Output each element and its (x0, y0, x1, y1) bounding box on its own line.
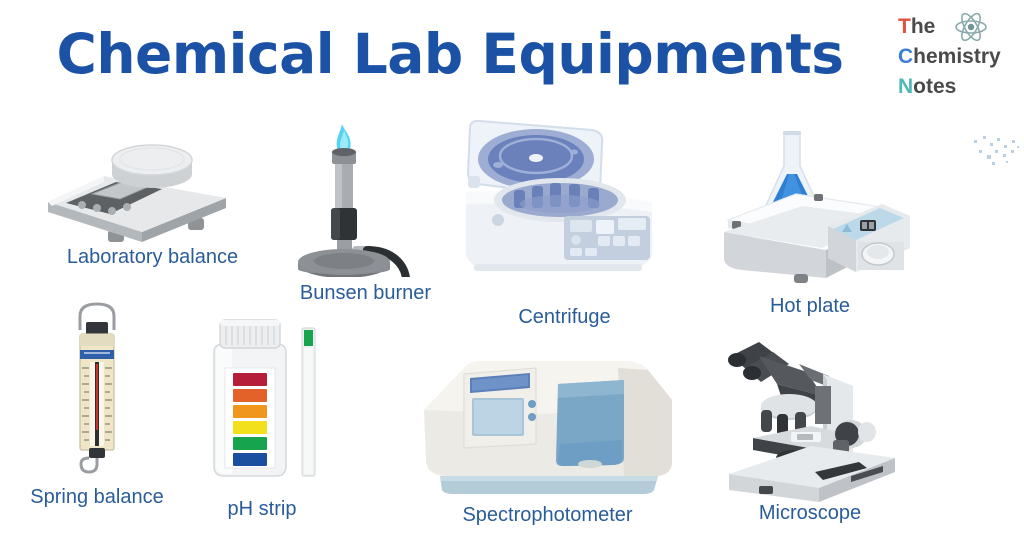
infographic-canvas: Chemical Lab Equipments The Chemistry No… (0, 0, 1024, 536)
equipment-spectrophotometer: Spectrophotometer (410, 348, 685, 533)
logo-line1-rest: he (911, 15, 936, 38)
molecule-dots-icon (970, 134, 1022, 179)
equipment-bunsen-burner: Bunsen burner (288, 122, 443, 307)
logo-line3-rest: otes (913, 75, 956, 98)
label-spectrophotometer: Spectrophotometer (410, 504, 685, 527)
logo-cap-n: N (898, 75, 913, 98)
logo-cap-c: C (898, 45, 913, 68)
microscope-illustration (715, 334, 905, 507)
equipment-spring-balance: Spring balance (22, 300, 172, 515)
centrifuge-illustration (452, 116, 677, 306)
spring-balance-illustration (22, 300, 172, 485)
logo-line-3: Notes (898, 72, 1022, 102)
hot-plate-illustration (710, 128, 910, 298)
bunsen-burner-illustration (288, 122, 443, 282)
laboratory-balance-illustration (30, 126, 275, 259)
logo-line2-rest: hemistry (913, 45, 1001, 68)
equipment-centrifuge: Centrifuge (452, 116, 677, 336)
label-centrifuge: Centrifuge (452, 306, 677, 329)
label-laboratory-balance: Laboratory balance (30, 246, 275, 269)
logo-cap-t: T (898, 15, 911, 38)
equipment-laboratory-balance: Laboratory balance (30, 126, 275, 276)
label-bunsen-burner: Bunsen burner (288, 282, 443, 305)
ph-strip-illustration (192, 312, 332, 497)
label-microscope: Microscope (715, 502, 905, 525)
equipment-hot-plate: Hot plate (710, 128, 910, 318)
label-ph-strip: pH strip (192, 498, 332, 521)
logo-line-1: The (898, 12, 1022, 42)
equipment-ph-strip: pH strip (192, 312, 332, 532)
page-title: Chemical Lab Equipments (0, 22, 900, 86)
label-spring-balance: Spring balance (22, 486, 172, 509)
logo-line-2: Chemistry (898, 42, 1022, 72)
brand-logo: The Chemistry Notes (898, 12, 1022, 112)
label-hot-plate: Hot plate (710, 295, 910, 318)
equipment-microscope: Microscope (715, 334, 905, 529)
spectrophotometer-illustration (410, 348, 685, 503)
